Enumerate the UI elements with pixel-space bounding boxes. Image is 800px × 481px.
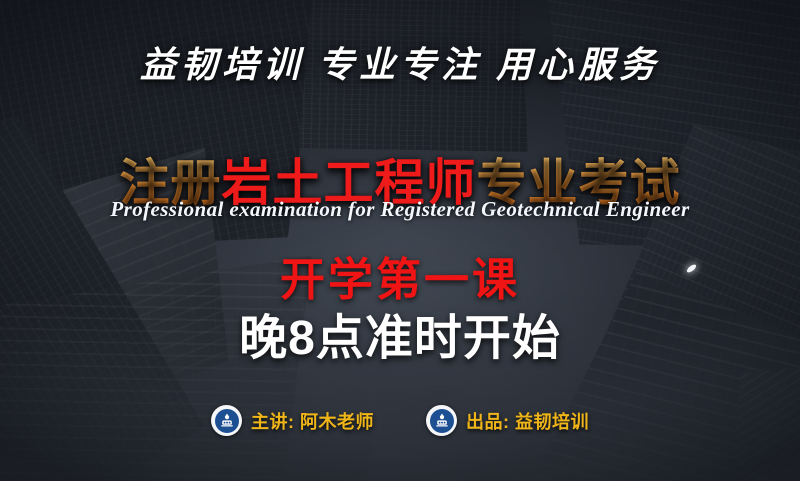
producer-icon <box>426 405 457 436</box>
credit-lecturer: 主讲: 阿木老师 <box>211 405 374 436</box>
tagline: 益韧培训 专业专注 用心服务 <box>0 36 800 88</box>
credit-producer: 出品: 益韧培训 <box>426 405 589 436</box>
lecturer-icon <box>211 405 242 436</box>
poster-content: 益韧培训 专业专注 用心服务 注册岩土工程师专业考试 Professional … <box>0 0 800 481</box>
english-subtitle: Professional examination for Registered … <box>0 197 800 222</box>
poster-canvas: 益韧培训 专业专注 用心服务 注册岩土工程师专业考试 Professional … <box>0 0 800 481</box>
credit-producer-label: 出品: 益韧培训 <box>466 408 589 434</box>
credit-lecturer-label: 主讲: 阿木老师 <box>251 408 374 434</box>
credits-row: 主讲: 阿木老师 <box>0 405 800 436</box>
start-time-text: 晚8点准时开始 <box>0 298 800 368</box>
